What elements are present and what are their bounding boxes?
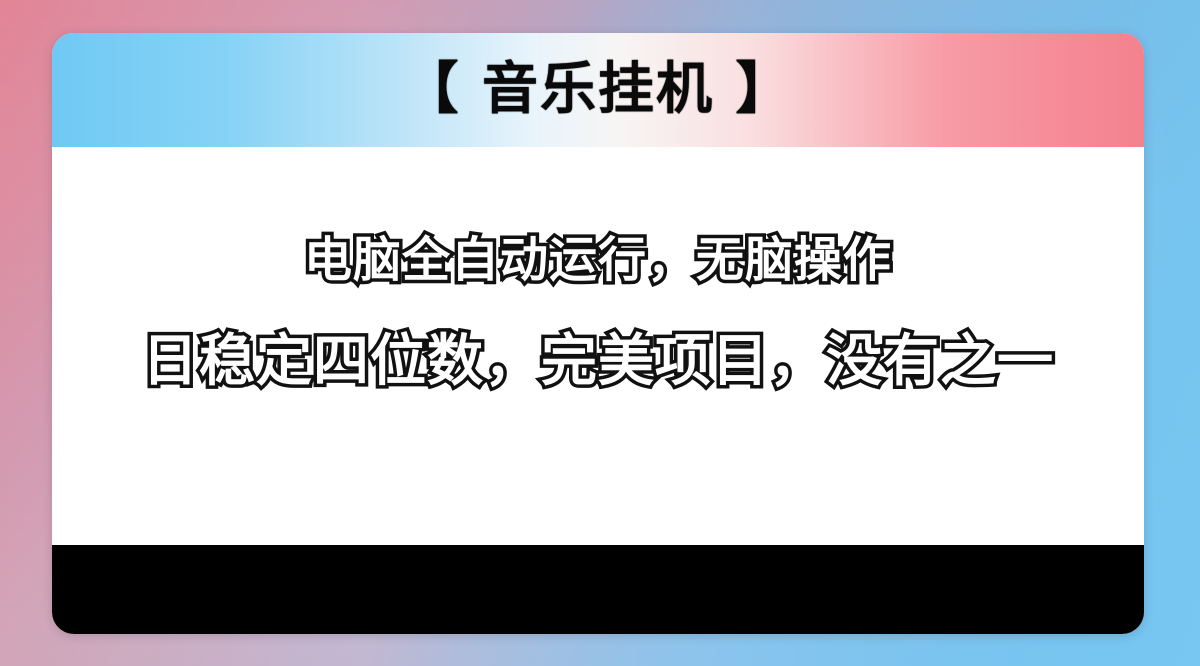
card-header-band: 【 音乐挂机 】 (52, 33, 1144, 147)
card-footer-band (52, 545, 1144, 634)
body-line-1: 电脑全自动运行，无脑操作 (304, 235, 892, 285)
card-body: 电脑全自动运行，无脑操作 日稳定四位数，完美项目，没有之一 (52, 147, 1144, 545)
poster-canvas: 【 音乐挂机 】 电脑全自动运行，无脑操作 日稳定四位数，完美项目，没有之一 (0, 0, 1200, 666)
card-title: 【 音乐挂机 】 (403, 62, 794, 118)
body-line-2: 日稳定四位数，完美项目，没有之一 (142, 333, 1054, 392)
promo-card: 【 音乐挂机 】 电脑全自动运行，无脑操作 日稳定四位数，完美项目，没有之一 (52, 33, 1144, 634)
